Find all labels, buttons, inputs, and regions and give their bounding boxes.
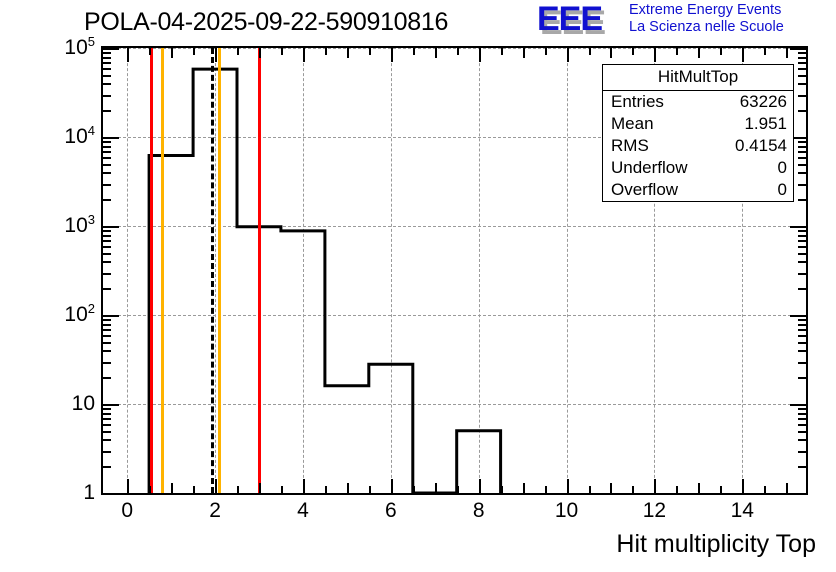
x-tick-top-14.5 (764, 48, 766, 55)
y-tick-right-4-2 (798, 110, 806, 112)
y-tick-right-1-3 (798, 362, 806, 364)
y-tick-2-9 (103, 230, 111, 232)
y-tick-right-3-6 (798, 157, 806, 159)
y-tick-right-0-2 (798, 466, 806, 468)
y-tick-1-4 (103, 350, 111, 352)
y-tick-right-4-4 (798, 83, 806, 85)
y-tick-3-7 (103, 151, 111, 153)
stats-row-rms: RMS0.4154 (603, 135, 793, 157)
y-tick-right-0-8 (798, 413, 806, 415)
page-title: POLA-04-2025-09-22-590910816 (84, 8, 448, 37)
x-tick-10 (567, 479, 569, 493)
x-tick-4 (303, 479, 305, 493)
y-tick-right-5-1 (790, 48, 806, 50)
x-tick-top-10 (567, 48, 569, 62)
y-tick-0-8 (103, 413, 111, 415)
y-tick-label-1: 10 (72, 393, 95, 414)
y-tick-2-2 (103, 288, 111, 290)
x-tick-10.5 (589, 486, 591, 493)
stats-row-underflow: Underflow0 (603, 157, 793, 179)
y-tick-1-9 (103, 319, 111, 321)
eee-logo-line1: Extreme Energy Events (629, 2, 784, 19)
x-tick-label-6: 12 (634, 500, 674, 522)
stats-box-title: HitMultTop (603, 65, 793, 91)
y-tick-label-0: 1 (83, 482, 95, 503)
x-tick-3.5 (281, 486, 283, 493)
stats-key: Underflow (611, 158, 688, 178)
x-tick-9.5 (545, 486, 547, 493)
y-tick-right-4-7 (798, 62, 806, 64)
y-tick-right-3-7 (798, 151, 806, 153)
y-tick-0-7 (103, 418, 111, 420)
y-tick-right-2-8 (798, 235, 806, 237)
x-tick-top-13 (698, 48, 700, 58)
y-tick-2-1 (103, 315, 119, 317)
x-tick-top-2 (215, 48, 217, 62)
y-tick-label-base: 10 (64, 214, 87, 237)
y-tick-right-3-2 (798, 199, 806, 201)
y-tick-4-4 (103, 83, 111, 85)
x-tick-top-0 (127, 48, 129, 62)
x-tick-14.5 (764, 486, 766, 493)
x-tick-top-0.5 (149, 48, 151, 55)
x-tick-top-12 (654, 48, 656, 62)
y-tick-right-2-7 (798, 240, 806, 242)
y-tick-4-5 (103, 75, 111, 77)
y-tick-right-1-5 (798, 342, 806, 344)
x-tick-top-15 (786, 48, 788, 58)
y-tick-0-3 (103, 451, 111, 453)
eee-logo-line2: La Scienza nelle Scuole (629, 19, 784, 36)
x-tick-5 (347, 483, 349, 493)
y-tick-right-3-8 (798, 146, 806, 148)
y-tick-right-4-5 (798, 75, 806, 77)
x-tick-top-4.5 (325, 48, 327, 55)
x-tick-12 (654, 479, 656, 493)
x-tick-top-5.5 (369, 48, 371, 55)
y-tick-0-6 (103, 424, 111, 426)
stats-value: 1.951 (744, 114, 787, 134)
x-tick-label-5: 10 (547, 500, 587, 522)
eee-logo-text: Extreme Energy Events La Scienza nelle S… (629, 2, 784, 36)
y-tick-right-1-6 (798, 335, 806, 337)
y-tick-0-4 (103, 439, 111, 441)
y-tick-label-3: 103 (64, 215, 95, 236)
y-tick-label-exponent: 4 (88, 123, 95, 138)
y-tick-label-exponent: 3 (88, 212, 95, 227)
y-tick-5-1 (103, 48, 119, 50)
x-tick-top-14 (742, 48, 744, 62)
stats-row-entries: Entries63226 (603, 91, 793, 113)
y-tick-right-0-3 (798, 451, 806, 453)
x-tick-2 (215, 479, 217, 493)
x-tick-top-3 (259, 48, 261, 58)
y-tick-right-3-9 (798, 141, 806, 143)
x-tick-0 (127, 479, 129, 493)
y-tick-right-1-1 (790, 404, 806, 406)
y-tick-1-6 (103, 335, 111, 337)
y-tick-1-7 (103, 329, 111, 331)
y-tick-right-1-8 (798, 324, 806, 326)
x-tick-top-3.5 (281, 48, 283, 55)
eee-logo: EEE EEE Extreme Energy Events La Scienza… (537, 2, 833, 40)
x-tick-13.5 (720, 486, 722, 493)
stats-value: 0 (778, 158, 787, 178)
x-tick-9 (523, 483, 525, 493)
x-tick-top-5 (347, 48, 349, 58)
x-tick-label-2: 4 (283, 500, 323, 522)
y-tick-2-5 (103, 253, 111, 255)
y-tick-right-4-6 (798, 68, 806, 70)
x-tick-top-9 (523, 48, 525, 58)
y-tick-right-0-9 (798, 408, 806, 410)
y-tick-4-1 (103, 137, 119, 139)
x-tick-top-7.5 (457, 48, 459, 55)
stats-key: RMS (611, 136, 649, 156)
x-tick-label-1: 2 (195, 500, 235, 522)
x-tick-6 (391, 479, 393, 493)
x-tick-top-4 (303, 48, 305, 62)
y-tick-right-1-7 (798, 329, 806, 331)
x-tick-label-4: 8 (459, 500, 499, 522)
y-tick-1-1 (103, 404, 119, 406)
stats-box: HitMultTop Entries63226Mean1.951RMS0.415… (602, 64, 794, 202)
y-tick-2-8 (103, 235, 111, 237)
y-tick-label-5: 105 (64, 37, 95, 58)
stats-row-mean: Mean1.951 (603, 113, 793, 135)
x-tick-11 (610, 483, 612, 493)
y-tick-0-1 (103, 493, 119, 495)
x-tick-top-8.5 (501, 48, 503, 55)
y-tick-2-3 (103, 273, 111, 275)
x-tick-top-10.5 (589, 48, 591, 55)
x-tick-11.5 (632, 486, 634, 493)
y-tick-right-2-3 (798, 273, 806, 275)
y-tick-right-0-7 (798, 418, 806, 420)
y-tick-4-3 (103, 95, 111, 97)
x-tick-7 (435, 483, 437, 493)
x-tick-top-11.5 (632, 48, 634, 55)
x-tick-0.5 (149, 486, 151, 493)
y-tick-right-4-8 (798, 57, 806, 59)
y-tick-4-2 (103, 110, 111, 112)
x-tick-top-1 (171, 48, 173, 58)
y-tick-right-2-6 (798, 246, 806, 248)
x-tick-label-0: 0 (107, 500, 147, 522)
y-tick-3-6 (103, 157, 111, 159)
stats-key: Entries (611, 92, 664, 112)
y-tick-2-7 (103, 240, 111, 242)
y-tick-right-3-1 (790, 226, 806, 228)
stats-box-rows: Entries63226Mean1.951RMS0.4154Underflow0… (603, 91, 793, 201)
y-tick-right-3-5 (798, 164, 806, 166)
y-tick-2-4 (103, 261, 111, 263)
x-tick-15 (786, 483, 788, 493)
y-tick-right-0-5 (798, 431, 806, 433)
x-tick-top-6.5 (413, 48, 415, 55)
y-tick-4-6 (103, 68, 111, 70)
y-tick-right-4-9 (798, 52, 806, 54)
x-tick-top-13.5 (720, 48, 722, 55)
eee-logo-mark: EEE (537, 2, 602, 36)
stats-value: 0.4154 (735, 136, 787, 156)
x-tick-7.5 (457, 486, 459, 493)
y-tick-label-4: 104 (64, 126, 95, 147)
y-tick-right-2-5 (798, 253, 806, 255)
y-tick-right-0-1 (790, 493, 806, 495)
y-tick-right-1-9 (798, 319, 806, 321)
x-axis-title: Hit multiplicity Top (616, 530, 816, 559)
y-tick-4-8 (103, 57, 111, 59)
y-tick-3-8 (103, 146, 111, 148)
x-tick-2.5 (237, 486, 239, 493)
x-tick-1.5 (193, 486, 195, 493)
y-tick-right-0-6 (798, 424, 806, 426)
y-tick-label-exponent: 2 (88, 301, 95, 316)
stats-value: 63226 (740, 92, 787, 112)
y-tick-label-exponent: 5 (88, 34, 95, 49)
x-tick-13 (698, 483, 700, 493)
y-tick-0-9 (103, 408, 111, 410)
x-tick-8.5 (501, 486, 503, 493)
x-tick-6.5 (413, 486, 415, 493)
root-canvas: POLA-04-2025-09-22-590910816 EEE EEE Ext… (0, 0, 836, 572)
y-tick-3-9 (103, 141, 111, 143)
y-tick-right-2-2 (798, 288, 806, 290)
y-tick-label-base: 10 (64, 125, 87, 148)
y-tick-right-2-9 (798, 230, 806, 232)
y-tick-1-2 (103, 377, 111, 379)
x-tick-8 (479, 479, 481, 493)
stats-key: Overflow (611, 180, 678, 200)
y-tick-right-2-1 (790, 315, 806, 317)
y-tick-3-4 (103, 172, 111, 174)
y-tick-2-6 (103, 246, 111, 248)
x-tick-top-7 (435, 48, 437, 58)
x-tick-top-8 (479, 48, 481, 62)
y-tick-right-3-4 (798, 172, 806, 174)
y-tick-4-7 (103, 62, 111, 64)
y-tick-1-5 (103, 342, 111, 344)
stats-value: 0 (778, 180, 787, 200)
stats-key: Mean (611, 114, 654, 134)
x-tick-5.5 (369, 486, 371, 493)
x-tick-12.5 (676, 486, 678, 493)
x-tick-3 (259, 483, 261, 493)
y-tick-0-5 (103, 431, 111, 433)
y-tick-right-1-4 (798, 350, 806, 352)
y-tick-4-9 (103, 52, 111, 54)
x-tick-top-6 (391, 48, 393, 62)
x-tick-1 (171, 483, 173, 493)
y-tick-right-4-3 (798, 95, 806, 97)
y-tick-0-2 (103, 466, 111, 468)
x-tick-top-2.5 (237, 48, 239, 55)
x-tick-14 (742, 479, 744, 493)
y-tick-right-0-4 (798, 439, 806, 441)
y-tick-3-3 (103, 184, 111, 186)
y-tick-3-2 (103, 199, 111, 201)
x-tick-top-11 (610, 48, 612, 58)
x-tick-top-12.5 (676, 48, 678, 55)
y-tick-label-2: 102 (64, 304, 95, 325)
y-tick-label-base: 10 (64, 303, 87, 326)
y-tick-1-3 (103, 362, 111, 364)
x-tick-top-9.5 (545, 48, 547, 55)
x-tick-4.5 (325, 486, 327, 493)
y-tick-3-5 (103, 164, 111, 166)
x-tick-label-3: 6 (371, 500, 411, 522)
stats-row-overflow: Overflow0 (603, 179, 793, 201)
y-tick-right-2-4 (798, 261, 806, 263)
y-tick-label-base: 10 (64, 36, 87, 59)
y-tick-right-1-2 (798, 377, 806, 379)
y-tick-right-3-3 (798, 184, 806, 186)
x-tick-label-7: 14 (722, 500, 762, 522)
y-tick-1-8 (103, 324, 111, 326)
y-tick-3-1 (103, 226, 119, 228)
x-tick-top-1.5 (193, 48, 195, 55)
